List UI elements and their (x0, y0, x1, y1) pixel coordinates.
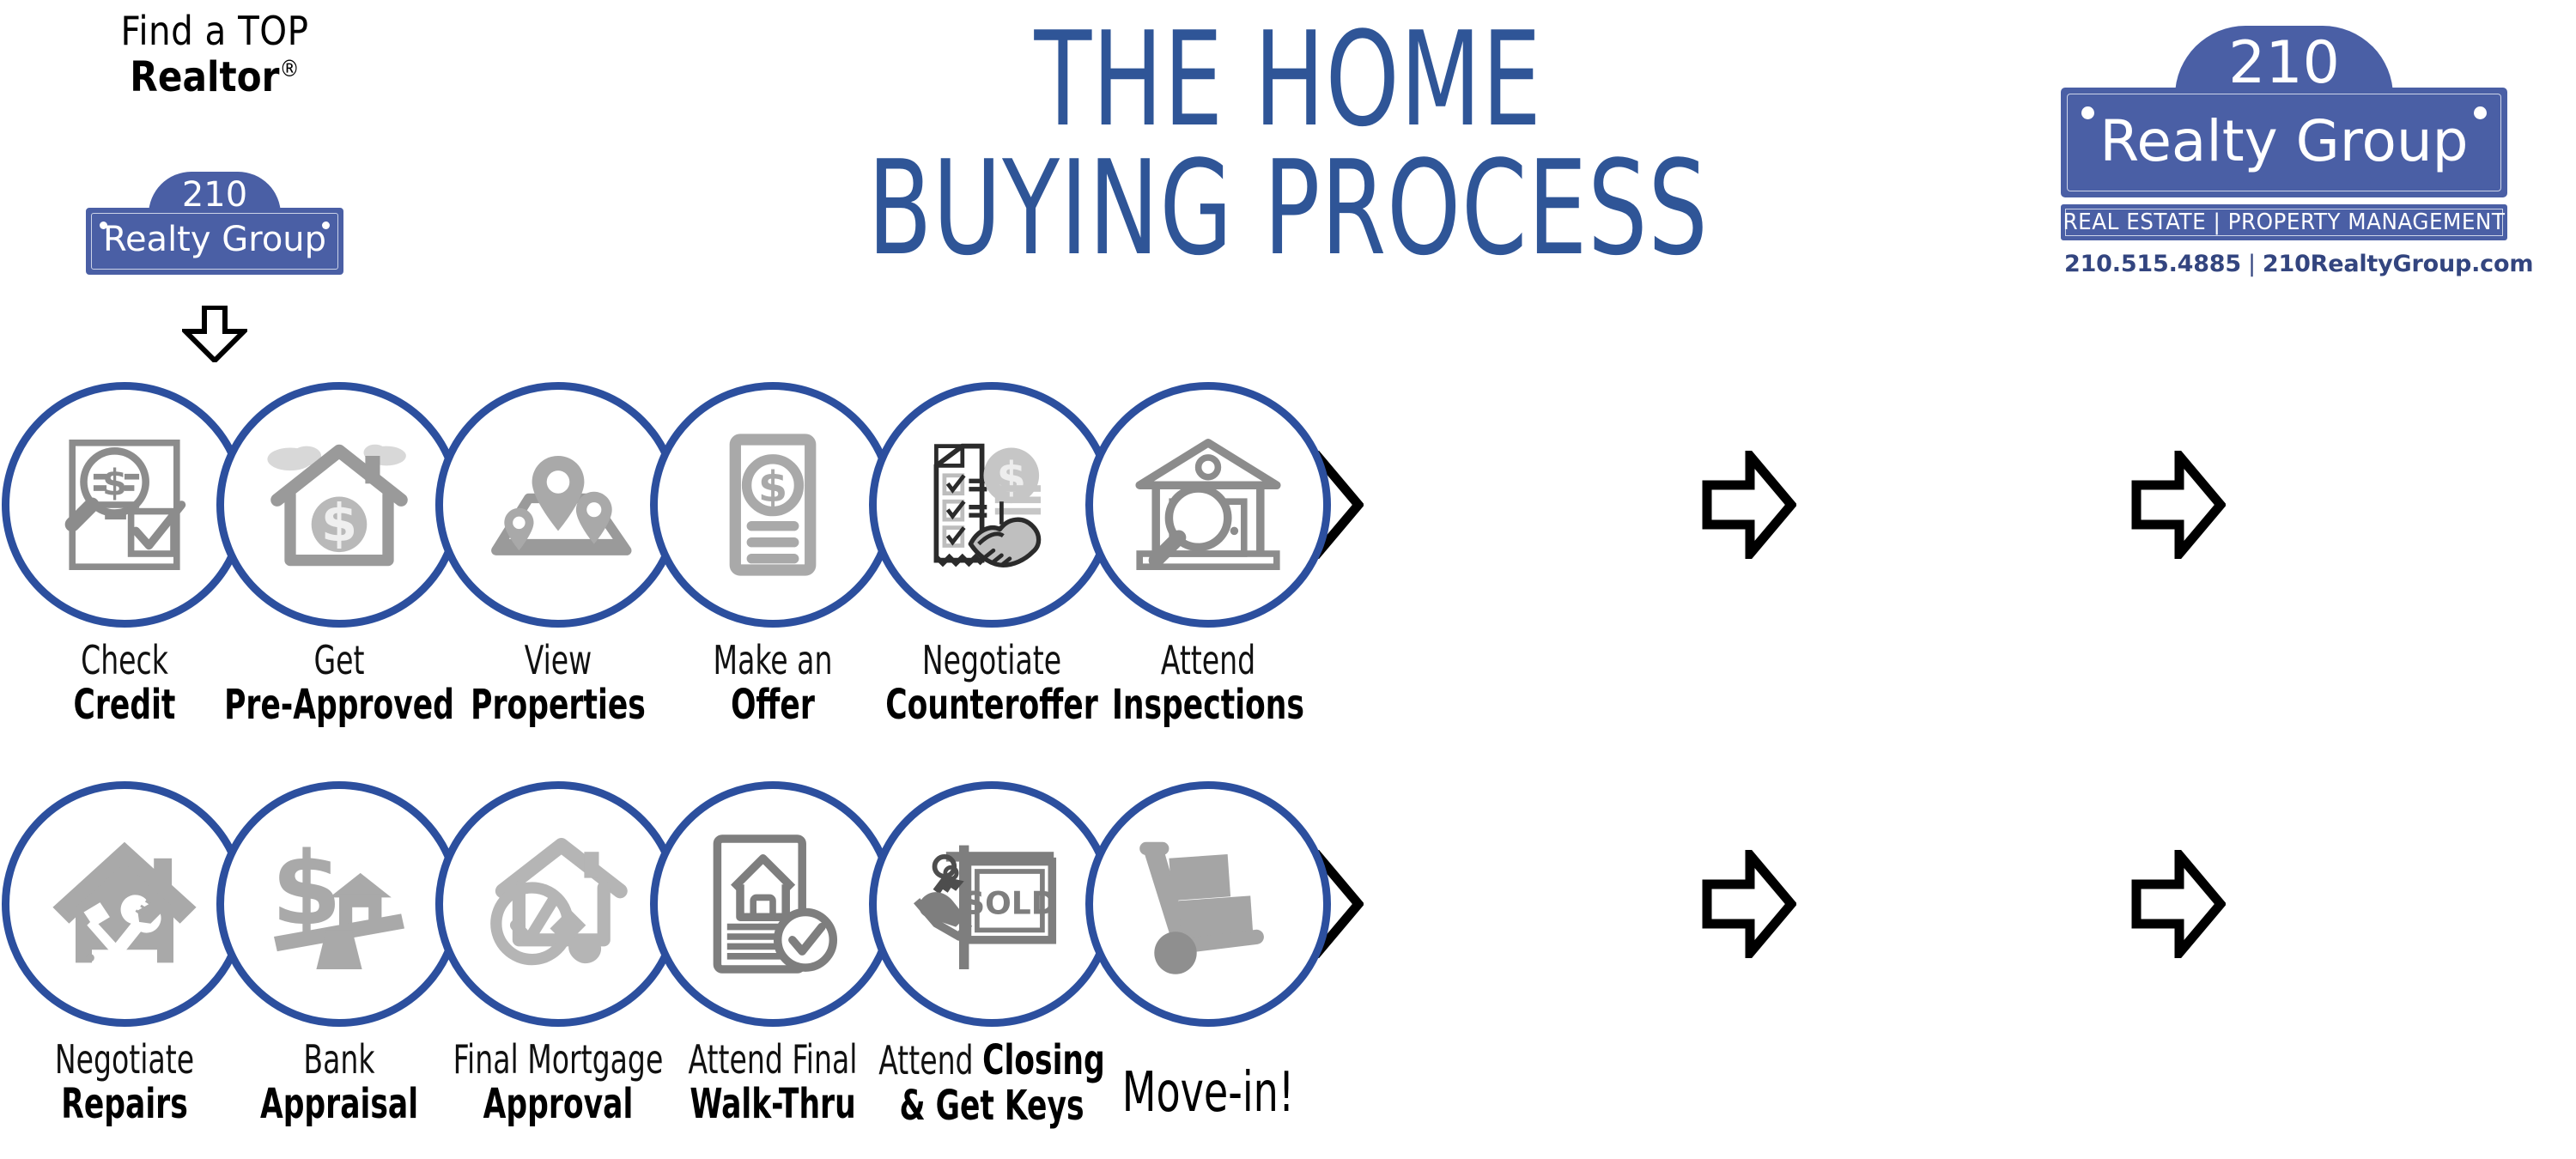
step-attend-inspections[interactable]: Attend Inspections (993, 382, 1423, 743)
svg-text:$: $ (102, 462, 127, 504)
step-caption-line1: Attend (1036, 640, 1380, 683)
logo-main-number: 210 (2061, 29, 2507, 97)
logo-tagline-text: REAL ESTATE | PROPERTY MANAGEMENT (2063, 209, 2506, 235)
logo-contact-separator: | (2241, 251, 2263, 277)
logo-phone[interactable]: 210.515.4885 (2064, 251, 2241, 277)
logo-small-number: 210 (86, 175, 343, 215)
logo-main-name: Realty Group (2061, 108, 2507, 174)
page-title-line1: THE HOME (780, 15, 1796, 144)
logo-contact-line: 210.515.4885|210RealtyGroup.com (2064, 251, 2533, 277)
step-caption: Move-in! (993, 1039, 1423, 1123)
find-realtor-line2: Realtor® (71, 54, 358, 101)
down-arrow-icon (182, 306, 247, 367)
registered-mark: ® (279, 56, 299, 82)
step-caption-single: Move-in! (1036, 1039, 1380, 1123)
right-block-arrow-icon (1702, 451, 1796, 559)
step-move-in[interactable]: Move-in! (993, 781, 1423, 1142)
process-row-2: Negotiate Repairs $ (0, 781, 2576, 1142)
find-realtor-block: Find a TOP Realtor® (52, 9, 378, 101)
page-title: THE HOME BUYING PROCESS (653, 15, 1923, 274)
right-block-arrow-icon (2131, 850, 2226, 958)
right-block-arrow-icon (1702, 850, 1796, 958)
logo-main-210-realty-group: 210 Realty Group REAL ESTATE | PROPERTY … (2061, 26, 2507, 197)
logo-small-210-realty-group: 210 Realty Group (86, 172, 343, 275)
process-row-1: $ Check Credit (0, 382, 2576, 743)
logo-tagline-bar: REAL ESTATE | PROPERTY MANAGEMENT (2061, 204, 2507, 240)
page-title-line2: BUYING PROCESS (780, 144, 1796, 273)
step-caption-line1-light: Attend (878, 1037, 982, 1083)
logo-small-name: Realty Group (86, 220, 343, 259)
step-caption: Attend Inspections (993, 640, 1423, 728)
find-realtor-line1: Find a TOP (71, 9, 358, 54)
logo-website[interactable]: 210RealtyGroup.com (2263, 251, 2533, 277)
house-inspection-icon (1127, 423, 1290, 586)
hand-truck-icon (1127, 822, 1290, 986)
infographic-canvas: Find a TOP Realtor® 210 Realty Group THE… (0, 0, 2576, 1159)
step-caption-line2: Inspections (1036, 683, 1380, 729)
right-block-arrow-icon (2131, 451, 2226, 559)
find-realtor-word: Realtor (130, 53, 279, 101)
